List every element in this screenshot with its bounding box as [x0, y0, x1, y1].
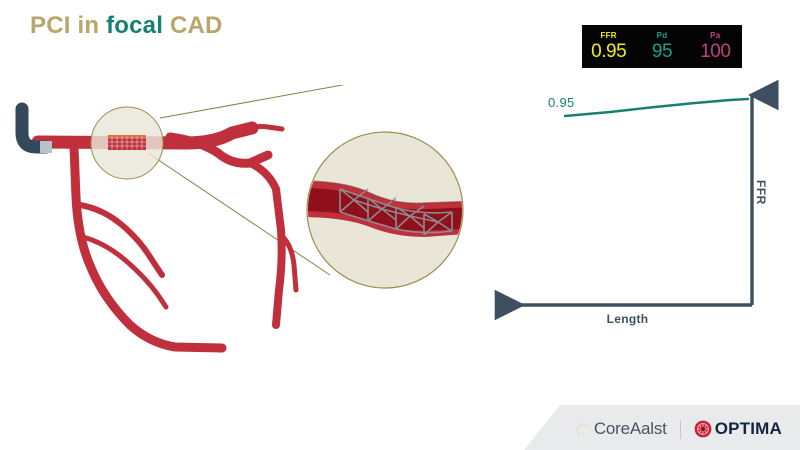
footer: CoreAalst OPTIMA	[0, 405, 800, 450]
coronary-anatomy-illustration	[0, 85, 500, 385]
optima-logo: OPTIMA	[694, 419, 782, 439]
coreaalst-wordmark: CoreAalst	[594, 419, 667, 439]
chart-y-axis-label: FFR	[754, 180, 768, 205]
monitor-cell-pd: Pd 95	[635, 25, 688, 68]
chart-series-line	[565, 99, 748, 116]
title-highlight: focal	[106, 12, 163, 39]
footer-logo-divider	[680, 420, 681, 439]
coreaalst-swirl-icon	[572, 420, 591, 439]
monitor-label-pa: Pa	[710, 32, 720, 40]
ffr-pullback-chart: 0.95 FFR Length	[490, 80, 800, 335]
monitor-value-pd: 95	[652, 42, 672, 61]
monitor-cell-pa: Pa 100	[689, 25, 742, 68]
title-part-2: CAD	[163, 12, 222, 39]
monitor-value-ffr: 0.95	[591, 42, 626, 61]
coreaalst-logo: CoreAalst	[572, 419, 667, 439]
chart-x-axis-label: Length	[490, 312, 765, 326]
chart-point-label: 0.95	[548, 95, 575, 110]
stent-magnified-view	[300, 132, 480, 288]
monitor-label-pd: Pd	[657, 32, 668, 40]
pressure-monitor-panel: FFR 0.95 Pd 95 Pa 100	[582, 25, 742, 68]
optima-wordmark: OPTIMA	[715, 419, 782, 439]
optima-emblem-icon	[694, 420, 712, 438]
monitor-cell-ffr: FFR 0.95	[582, 25, 635, 68]
footer-logos: CoreAalst OPTIMA	[572, 419, 782, 439]
guiding-catheter-icon	[22, 109, 52, 147]
monitor-label-ffr: FFR	[600, 32, 616, 40]
anatomy-svg	[0, 85, 500, 385]
title-part-1: PCI in	[30, 12, 106, 39]
stent-site-circle	[91, 107, 163, 179]
monitor-value-pa: 100	[700, 42, 730, 61]
page-title: PCI in focal CAD	[30, 12, 223, 40]
slide-canvas: PCI in focal CAD FFR 0.95 Pd 95 Pa 100	[0, 0, 800, 450]
chart-svg	[490, 80, 800, 335]
artery-tree	[38, 127, 296, 349]
